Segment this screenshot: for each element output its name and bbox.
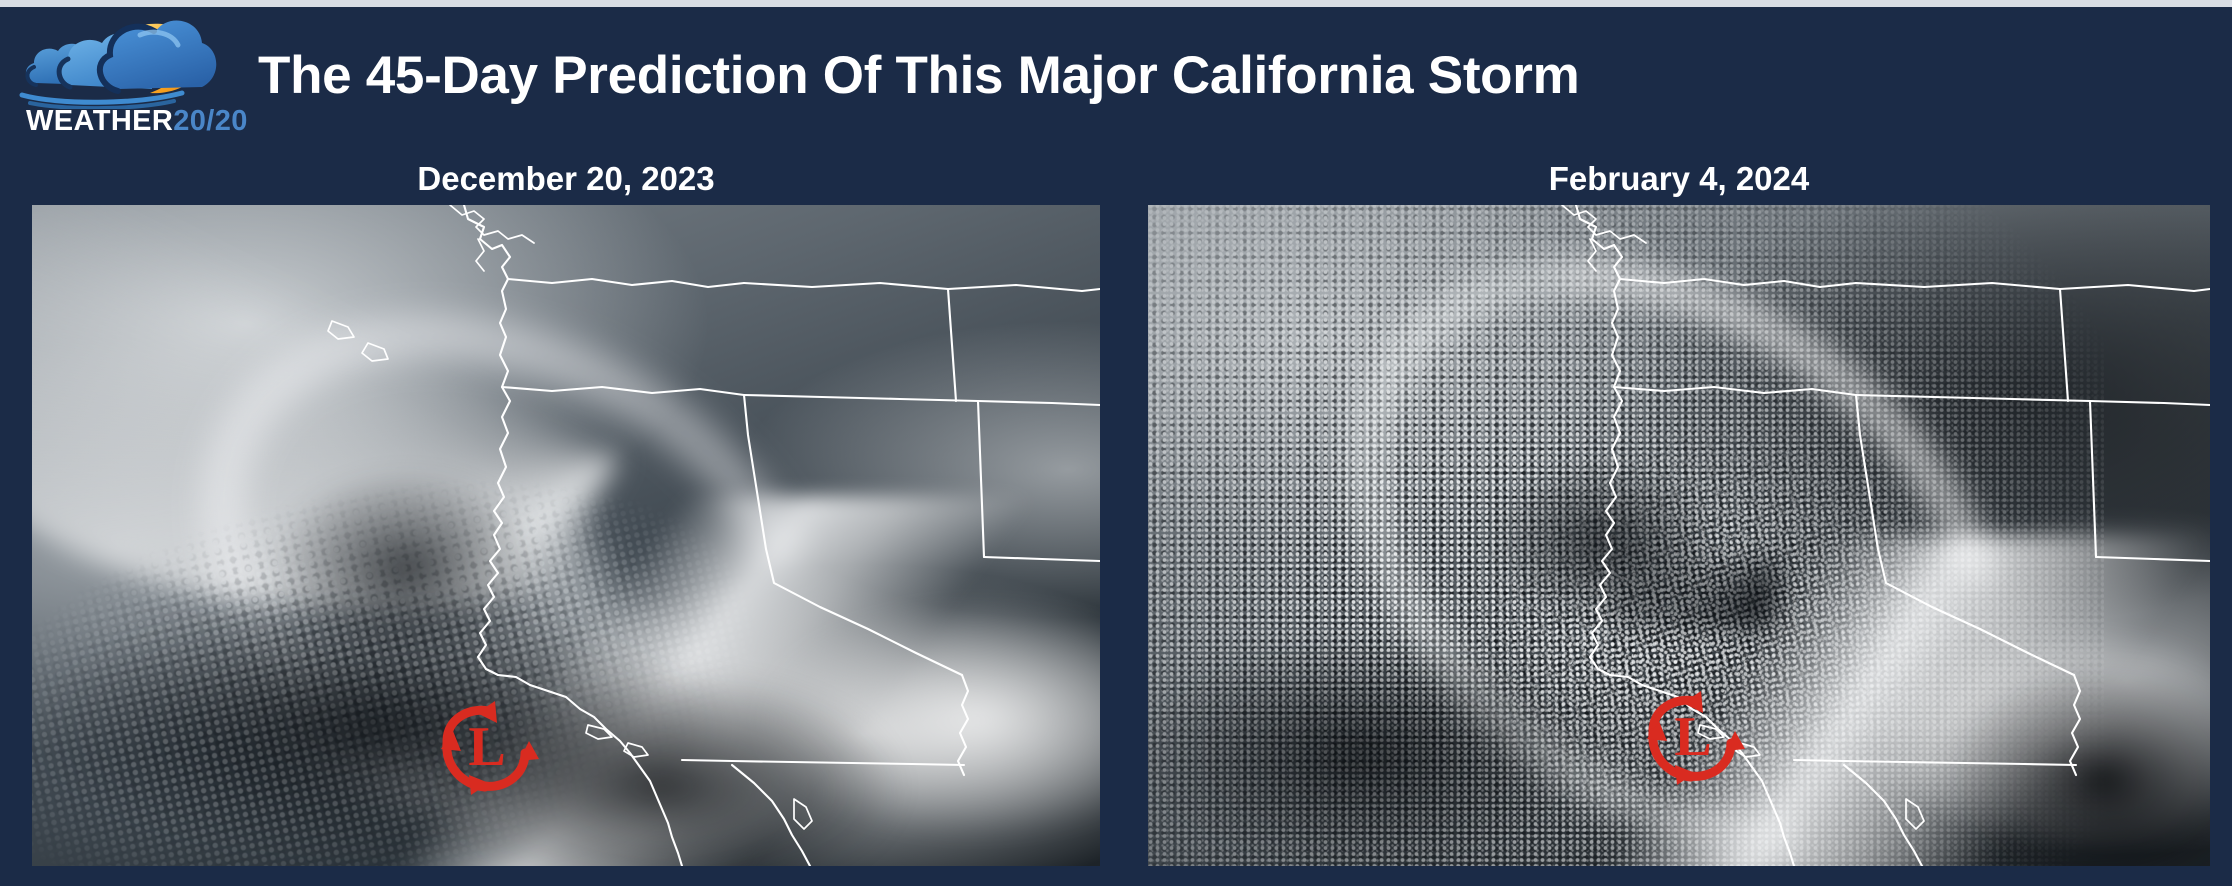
brand-wordmark: WEATHER20/20 [26, 107, 248, 136]
top-accent-strip [0, 0, 2232, 7]
page-title: The 45-Day Prediction Of This Major Cali… [258, 45, 1579, 106]
low-pressure-letter: L [468, 716, 505, 778]
low-pressure-letter: L [1674, 706, 1711, 768]
low-pressure-marker-left: L [427, 695, 547, 805]
low-pressure-marker-right: L [1633, 685, 1753, 795]
brand-wordmark-primary: WEATHER [26, 105, 173, 137]
panel-label-right: February 4, 2024 [1148, 160, 2210, 198]
weather-2020-cloud-logo-icon [14, 9, 239, 109]
low-pressure-cyclone-icon: L [1633, 685, 1753, 795]
header: WEATHER20/20 The 45-Day Prediction Of Th… [0, 7, 2232, 167]
map-border-overlay-left [32, 205, 1100, 866]
low-pressure-cyclone-icon: L [427, 695, 547, 805]
brand-logo: WEATHER20/20 [14, 9, 239, 154]
slide-root: WEATHER20/20 The 45-Day Prediction Of Th… [0, 0, 2232, 886]
brand-wordmark-secondary: 20/20 [173, 105, 248, 137]
satellite-panel-february[interactable]: L [1148, 205, 2210, 866]
satellite-panel-december[interactable]: L [32, 205, 1100, 866]
panel-label-left: December 20, 2023 [32, 160, 1100, 198]
